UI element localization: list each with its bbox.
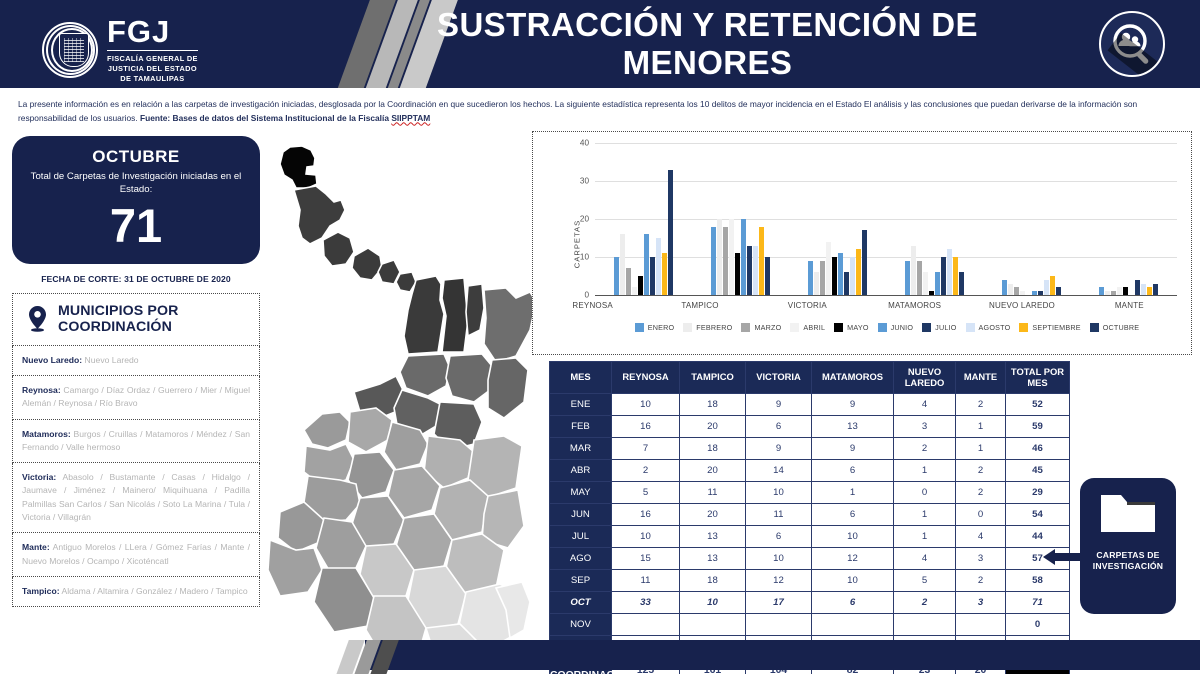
table-row: ABR2201461245 (550, 460, 1070, 482)
table-row: MAY5111010229 (550, 482, 1070, 504)
table-value-cell: 10 (746, 482, 812, 504)
table-header-cell: MANTE (956, 362, 1006, 394)
chart-bar (1105, 291, 1110, 295)
chart-bar (905, 261, 910, 295)
chart-legend-item[interactable]: OCTUBRE (1090, 323, 1140, 332)
table-value-cell: 1 (894, 504, 956, 526)
chart-bar (638, 276, 643, 295)
municipio-row: Tampico: Aldama / Altamira / González / … (12, 577, 260, 607)
chart-bar (1032, 291, 1037, 295)
chart-bar (650, 257, 655, 295)
chart-x-tick-label: REYNOSA (539, 301, 646, 310)
chart-y-tick: 20 (565, 215, 589, 224)
chart-bar (656, 238, 661, 295)
chart-bar (1111, 291, 1116, 295)
monthly-data-table: MESREYNOSATAMPICOVICTORIAMATAMOROSNUEVO … (549, 361, 1056, 674)
table-value-cell: 20 (680, 460, 746, 482)
chart-bar-group (983, 143, 1080, 295)
chart-bar (1153, 284, 1158, 295)
table-value-cell: 10 (746, 548, 812, 570)
table-value-cell: 2 (956, 482, 1006, 504)
chart-y-tick: 10 (565, 253, 589, 262)
table-month-cell: NOV (550, 614, 612, 636)
chart-legend-item[interactable]: MARZO (741, 323, 781, 332)
table-row: JUN16201161054 (550, 504, 1070, 526)
chart-gridline (595, 295, 1177, 296)
page-footer (335, 640, 1200, 674)
table-header-cell: TOTAL POR MES (1006, 362, 1070, 394)
table-header-row: MESREYNOSATAMPICOVICTORIAMATAMOROSNUEVO … (550, 362, 1070, 394)
chart-legend-swatch (922, 323, 931, 332)
table-value-cell: 9 (746, 394, 812, 416)
chart-bar-group (595, 143, 692, 295)
chart-bar (1141, 284, 1146, 295)
chart-legend-item[interactable]: ABRIL (790, 323, 825, 332)
fgj-logo: FGJ FISCALÍA GENERAL DEJUSTICIA DEL ESTA… (42, 16, 198, 83)
table-value-cell: 20 (680, 416, 746, 438)
table-row-total-cell: 46 (1006, 438, 1070, 460)
table-value-cell: 0 (956, 504, 1006, 526)
table-month-cell: JUN (550, 504, 612, 526)
table-value-cell: 6 (746, 416, 812, 438)
table-row: SEP111812105258 (550, 570, 1070, 592)
table-value-cell: 1 (812, 482, 894, 504)
table-value-cell: 18 (680, 570, 746, 592)
page-header: FGJ FISCALÍA GENERAL DEJUSTICIA DEL ESTA… (0, 0, 1200, 88)
table-row-total-cell: 58 (1006, 570, 1070, 592)
chart-bar (1135, 280, 1140, 295)
table-value-cell (812, 614, 894, 636)
logo-acronym: FGJ (107, 16, 198, 47)
chart-x-tick-label: NUEVO LAREDO (968, 301, 1075, 310)
table-value-cell: 5 (894, 570, 956, 592)
municipios-panel: MUNICIPIOS POR COORDINACIÓN Nuevo Laredo… (12, 293, 260, 607)
municipio-row: Mante: Antiguo Morelos / LLera / Gómez F… (12, 533, 260, 577)
chart-legend-label: JULIO (935, 323, 956, 332)
table-row: JUL10136101444 (550, 526, 1070, 548)
cut-date-label: FECHA DE CORTE: 31 DE OCTUBRE DE 2020 (12, 274, 260, 284)
table-value-cell: 9 (812, 394, 894, 416)
chart-bar (735, 253, 740, 295)
chart-bar (668, 170, 673, 295)
chart-bar (1002, 280, 1007, 295)
chart-legend-item[interactable]: JUNIO (878, 323, 914, 332)
chart-x-tick-label: VICTORIA (754, 301, 861, 310)
table-value-cell: 9 (812, 438, 894, 460)
chart-y-tick: 0 (565, 291, 589, 300)
chart-bar (1056, 287, 1061, 295)
chart-legend-label: OCTUBRE (1103, 323, 1140, 332)
table-month-cell: SEP (550, 570, 612, 592)
chart-plot-area (595, 143, 1177, 295)
table-row-total-cell: 54 (1006, 504, 1070, 526)
table-row-total-cell: 44 (1006, 526, 1070, 548)
chart-bar (850, 257, 855, 295)
municipio-coordination-name: Matamoros: (22, 429, 71, 439)
table-value-cell: 2 (612, 460, 680, 482)
table-value-cell (680, 614, 746, 636)
table-value-cell: 6 (812, 504, 894, 526)
chart-legend-swatch (683, 323, 692, 332)
chart-bar (838, 253, 843, 295)
municipio-coordination-name: Tampico: (22, 586, 60, 596)
month-subtitle: Total de Carpetas de Investigación inici… (24, 171, 248, 197)
chart-bar-group (789, 143, 886, 295)
table-value-cell: 9 (746, 438, 812, 460)
chart-y-tick: 30 (565, 177, 589, 186)
table-header-cell: MATAMOROS (812, 362, 894, 394)
table-month-cell: JUL (550, 526, 612, 548)
chart-bar (941, 257, 946, 295)
chart-legend-item[interactable]: FEBRERO (683, 323, 732, 332)
chart-legend-item[interactable]: SEPTIEMBRE (1019, 323, 1080, 332)
table-value-cell: 11 (612, 570, 680, 592)
table-value-cell: 10 (612, 394, 680, 416)
table-value-cell: 1 (956, 438, 1006, 460)
table-row: NOV0 (550, 614, 1070, 636)
chart-bar (1014, 287, 1019, 295)
table-value-cell: 3 (894, 416, 956, 438)
table-value-cell (956, 614, 1006, 636)
monthly-bar-chart: CARPETAS 010203040 ENEROFEBREROMARZOABRI… (532, 131, 1192, 355)
table-header-cell: REYNOSA (612, 362, 680, 394)
intro-source-system: SIIPPTAM (391, 113, 430, 123)
chart-legend-swatch (1019, 323, 1028, 332)
chart-bar (814, 272, 819, 295)
municipio-coordination-name: Victoria: (22, 472, 56, 482)
table-value-cell: 14 (746, 460, 812, 482)
chart-legend-swatch (966, 323, 975, 332)
chart-bar (717, 219, 722, 295)
chart-bar (832, 257, 837, 295)
chart-bar (917, 261, 922, 295)
chart-legend: ENEROFEBREROMARZOABRILMAYOJUNIOJULIOAGOS… (595, 323, 1179, 332)
table-value-cell: 11 (746, 504, 812, 526)
chart-bar (953, 257, 958, 295)
chart-bar (826, 242, 831, 295)
table-row: ENE1018994252 (550, 394, 1070, 416)
chart-bar-group (692, 143, 789, 295)
left-arrow-icon (1043, 549, 1083, 565)
municipio-row: Matamoros: Burgos / Cruillas / Matamoros… (12, 420, 260, 464)
chart-bar (747, 246, 752, 295)
table-value-cell: 1 (894, 526, 956, 548)
table-value-cell: 18 (680, 394, 746, 416)
table-value-cell: 13 (680, 548, 746, 570)
chart-bar (959, 272, 964, 295)
table-value-cell: 12 (746, 570, 812, 592)
table-header-cell: NUEVO LAREDO (894, 362, 956, 394)
table-value-cell: 6 (812, 460, 894, 482)
table-value-cell: 13 (812, 416, 894, 438)
municipio-list: Abasolo / Bustamante / Casas / Hidalgo /… (22, 472, 250, 522)
table-row-total-cell: 29 (1006, 482, 1070, 504)
table-value-cell: 6 (812, 592, 894, 614)
municipio-list: Antiguo Morelos / LLera / Gómez Farías /… (22, 542, 250, 565)
municipio-coordination-name: Reynosa: (22, 385, 61, 395)
table-month-cell: OCT (550, 592, 612, 614)
chart-bar (632, 287, 637, 295)
left-sidebar: OCTUBRE Total de Carpetas de Investigaci… (12, 136, 260, 607)
tamaulipas-choropleth-map (268, 140, 550, 660)
month-total-value: 71 (24, 201, 248, 250)
table-value-cell: 7 (612, 438, 680, 460)
chart-bar (765, 257, 770, 295)
table-value-cell: 10 (812, 526, 894, 548)
carpetas-badge-label: CARPETAS DE INVESTIGACIÓN (1080, 550, 1176, 572)
table-month-cell: MAR (550, 438, 612, 460)
chart-bar (1147, 287, 1152, 295)
table-value-cell: 13 (680, 526, 746, 548)
state-seal-icon (42, 22, 98, 78)
chart-legend-label: MAYO (847, 323, 868, 332)
municipio-coordination-name: Nuevo Laredo: (22, 355, 82, 365)
chart-bar (711, 227, 716, 295)
chart-bar (753, 246, 758, 295)
chart-legend-swatch (790, 323, 799, 332)
table-value-cell: 6 (746, 526, 812, 548)
table-value-cell: 10 (680, 592, 746, 614)
table-value-cell: 4 (956, 526, 1006, 548)
table-month-cell: MAY (550, 482, 612, 504)
chart-legend-item[interactable]: AGOSTO (966, 323, 1011, 332)
table-value-cell: 12 (812, 548, 894, 570)
table-value-cell: 20 (680, 504, 746, 526)
table-value-cell: 11 (680, 482, 746, 504)
page-title: SUSTRACCIÓN Y RETENCIÓN DE MENORES (380, 0, 1035, 88)
municipio-list: Nuevo Laredo (82, 355, 138, 365)
chart-legend-swatch (1090, 323, 1099, 332)
chart-legend-label: JUNIO (891, 323, 914, 332)
chart-legend-item[interactable]: MAYO (834, 323, 868, 332)
chart-bar (1123, 287, 1128, 295)
chart-legend-label: SEPTIEMBRE (1032, 323, 1080, 332)
chart-bar (626, 268, 631, 295)
table-header-cell: VICTORIA (746, 362, 812, 394)
table-row-total-cell: 71 (1006, 592, 1070, 614)
table-value-cell: 3 (956, 548, 1006, 570)
chart-bar (1038, 291, 1043, 295)
chart-bar (929, 291, 934, 295)
chart-bar (1020, 291, 1025, 295)
chart-bar (1117, 287, 1122, 295)
municipio-coordination-name: Mante: (22, 542, 50, 552)
chart-y-tick: 40 (565, 139, 589, 148)
chart-bar (729, 219, 734, 295)
table-row-total-cell: 0 (1006, 614, 1070, 636)
table-value-cell: 2 (956, 394, 1006, 416)
chart-x-tick-label: MANTE (1076, 301, 1183, 310)
table-row-total-cell: 52 (1006, 394, 1070, 416)
chart-bar (1044, 280, 1049, 295)
intro-source-label: Fuente: Bases de datos del Sistema Insti… (140, 113, 391, 123)
month-name: OCTUBRE (24, 147, 248, 167)
table-value-cell: 15 (612, 548, 680, 570)
table-value-cell: 10 (612, 526, 680, 548)
table-value-cell: 1 (956, 416, 1006, 438)
chart-bar (1099, 287, 1104, 295)
logo-subtitle: FISCALÍA GENERAL DEJUSTICIA DEL ESTADODE… (107, 50, 198, 83)
chart-bar (862, 230, 867, 295)
table-value-cell: 18 (680, 438, 746, 460)
table-value-cell: 17 (746, 592, 812, 614)
chart-legend-label: ENERO (648, 323, 675, 332)
chart-bar (808, 261, 813, 295)
municipios-header: MUNICIPIOS POR COORDINACIÓN (12, 293, 260, 345)
table-value-cell: 10 (812, 570, 894, 592)
table-value-cell (894, 614, 956, 636)
map-pin-icon (27, 305, 48, 333)
table-row: OCT33101762371 (550, 592, 1070, 614)
chart-bar (614, 257, 619, 295)
chart-bar (911, 246, 916, 295)
table-month-cell: AGO (550, 548, 612, 570)
table-value-cell: 0 (894, 482, 956, 504)
table-row-total-cell: 59 (1006, 416, 1070, 438)
chart-bar-group (1080, 143, 1177, 295)
chart-x-tick-label: MATAMOROS (861, 301, 968, 310)
table-value-cell (612, 614, 680, 636)
municipio-row: Nuevo Laredo: Nuevo Laredo (12, 346, 260, 376)
table-value-cell: 2 (956, 460, 1006, 482)
chart-legend-label: ABRIL (803, 323, 825, 332)
table-month-cell: ABR (550, 460, 612, 482)
table-value-cell: 2 (956, 570, 1006, 592)
table-value-cell: 33 (612, 592, 680, 614)
table-header-cell: MES (550, 362, 612, 394)
table-month-cell: FEB (550, 416, 612, 438)
municipio-row: Reynosa: Camargo / Díaz Ordaz / Guerrero… (12, 376, 260, 420)
chart-bar (759, 227, 764, 295)
chart-bar (741, 219, 746, 295)
chart-bar (662, 253, 667, 295)
table-value-cell: 2 (894, 592, 956, 614)
chart-legend-item[interactable]: JULIO (922, 323, 956, 332)
table-value-cell: 3 (956, 592, 1006, 614)
table-row: MAR718992146 (550, 438, 1070, 460)
chart-bar (723, 227, 728, 295)
municipios-title: MUNICIPIOS POR COORDINACIÓN (58, 303, 251, 335)
table-value-cell (746, 614, 812, 636)
chart-legend-label: AGOSTO (979, 323, 1011, 332)
chart-legend-label: MARZO (754, 323, 781, 332)
table-value-cell: 4 (894, 394, 956, 416)
chart-legend-swatch (834, 323, 843, 332)
chart-bar (820, 261, 825, 295)
chart-legend-swatch (741, 323, 750, 332)
municipio-row: Victoria: Abasolo / Bustamante / Casas /… (12, 463, 260, 533)
month-summary-card: OCTUBRE Total de Carpetas de Investigaci… (12, 136, 260, 264)
table-header-cell: TAMPICO (680, 362, 746, 394)
table-value-cell: 16 (612, 416, 680, 438)
chart-bar-group (886, 143, 983, 295)
chart-bar (923, 272, 928, 295)
table-row-total-cell: 45 (1006, 460, 1070, 482)
chart-bar (947, 249, 952, 295)
chart-legend-label: FEBRERO (696, 323, 732, 332)
chart-bar (620, 234, 625, 295)
table-value-cell: 16 (612, 504, 680, 526)
intro-paragraph: La presente información es en relación a… (18, 98, 1184, 125)
table-row: AGO151310124357 (550, 548, 1070, 570)
municipio-list: Aldama / Altamira / González / Madero / … (60, 586, 248, 596)
table-row: FEB16206133159 (550, 416, 1070, 438)
chart-bar (1050, 276, 1055, 295)
chart-bar (935, 272, 940, 295)
chart-legend-swatch (635, 323, 644, 332)
people-search-icon (1099, 11, 1165, 77)
carpetas-badge: CARPETAS DE INVESTIGACIÓN (1080, 478, 1176, 614)
chart-bar (644, 234, 649, 295)
chart-legend-swatch (878, 323, 887, 332)
table-value-cell: 4 (894, 548, 956, 570)
chart-legend-item[interactable]: ENERO (635, 323, 675, 332)
table-value-cell: 2 (894, 438, 956, 460)
chart-bar (844, 272, 849, 295)
folder-icon (1099, 491, 1157, 536)
table-month-cell: ENE (550, 394, 612, 416)
chart-bar (1008, 284, 1013, 295)
table-value-cell: 5 (612, 482, 680, 504)
chart-bar (856, 249, 861, 295)
table-value-cell: 1 (894, 460, 956, 482)
chart-x-tick-label: TAMPICO (646, 301, 753, 310)
